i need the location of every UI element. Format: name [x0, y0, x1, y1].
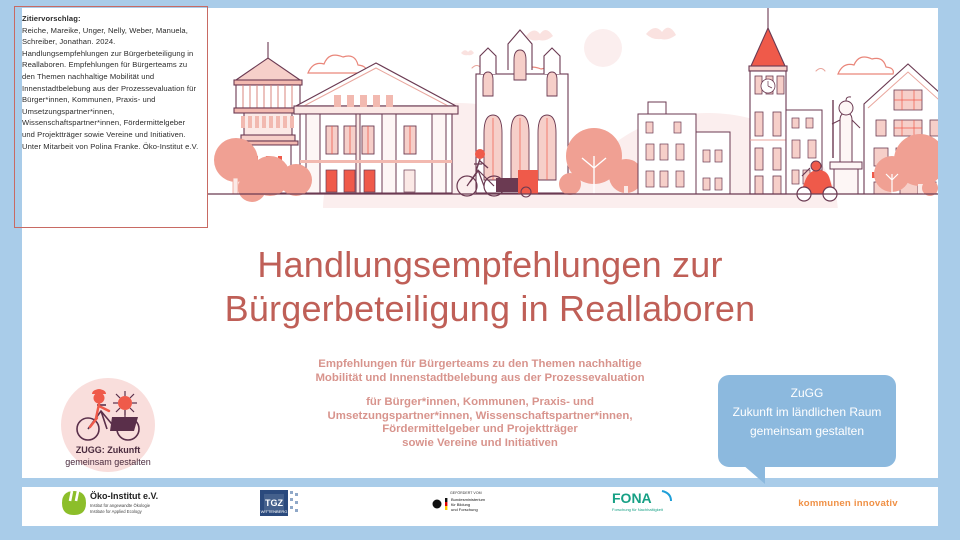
oeko-sub-1: Institut für angewandte Ökologie — [90, 503, 151, 508]
footer-logo-oeko-institut: Öko-Institut e.V. Institut für angewandt… — [58, 487, 178, 526]
bubble-line-2: Zukunft im ländlichen Raum — [718, 403, 896, 422]
zugg-speech-bubble: ZuGG Zukunft im ländlichen Raum gemeinsa… — [718, 375, 896, 467]
subtitle-b2-line-1: für Bürger*innen, Kommunen, Praxis- und — [230, 396, 730, 410]
subtitle-b2-line-2: Umsetzungspartner*innen, Wissenschaftspa… — [230, 410, 730, 424]
speech-bubble-tail — [726, 458, 765, 484]
tgz-title: TGZ — [265, 498, 283, 508]
footer-divider — [22, 481, 938, 485]
bmbf-title: GEFÖRDERT VOM — [450, 491, 482, 495]
citation-heading: Zitiervorschlag: — [22, 13, 200, 25]
citation-body: Reiche, Mareike, Unger, Nelly, Weber, Ma… — [22, 25, 200, 153]
subtitle-b2-line-4: sowie Vereine und Initiativen — [230, 437, 730, 451]
subtitle-block-2: für Bürger*innen, Kommunen, Praxis- und … — [230, 396, 730, 450]
fona-title: FONA — [612, 490, 652, 506]
fona-sub-1: Forschung für Nachhaltigkeit — [612, 507, 664, 512]
citation-box: Zitiervorschlag: Reiche, Mareike, Unger,… — [14, 6, 208, 228]
page-title: Handlungsempfehlungen zur Bürgerbeteilig… — [150, 243, 830, 331]
bmbf-sub-3: und Forschung — [451, 507, 478, 512]
subtitle-b1-line-2: Mobilität und Innenstadtbelebung aus der… — [230, 372, 730, 386]
title-line-2: Bürgerbeteiligung in Reallaboren — [150, 287, 830, 331]
title-line-1: Handlungsempfehlungen zur — [150, 243, 830, 287]
footer-logo-fona: FONA Forschung für Nachhaltigkeit — [608, 487, 698, 526]
oeko-title: Öko-Institut e.V. — [90, 491, 158, 501]
zugg-logo-line-1: ZUGG: Zukunft — [76, 445, 141, 455]
tgz-sub-1: WITTENBERG — [261, 509, 288, 514]
bubble-line-3: gemeinsam gestalten — [718, 422, 896, 441]
footer-logo-tgz: TGZ WITTENBERG — [258, 487, 328, 526]
bubble-line-1: ZuGG — [718, 384, 896, 403]
cityscape-illustration — [208, 8, 938, 208]
kommunen-innovativ-label: kommunen innovativ — [778, 498, 918, 509]
footer-logo-bmbf: GEFÖRDERT VOM Bundesministerium für Bild… — [428, 487, 538, 526]
oeko-sub-2: Institute for Applied Ecology — [90, 509, 143, 514]
subtitle-b1-line-1: Empfehlungen für Bürgerteams zu den Them… — [230, 358, 730, 372]
subtitle-b2-line-3: Fördermittelgeber und Projektträger — [230, 423, 730, 437]
zugg-logo-line-2: gemeinsam gestalten — [65, 457, 151, 467]
zugg-logo: ZUGG: Zukunft gemeinsam gestalten — [60, 377, 156, 473]
subtitle-block-1: Empfehlungen für Bürgerteams zu den Them… — [230, 358, 730, 385]
slide-root: Zitiervorschlag: Reiche, Mareike, Unger,… — [0, 0, 960, 540]
page-subtitle: Empfehlungen für Bürgerteams zu den Them… — [230, 358, 730, 451]
